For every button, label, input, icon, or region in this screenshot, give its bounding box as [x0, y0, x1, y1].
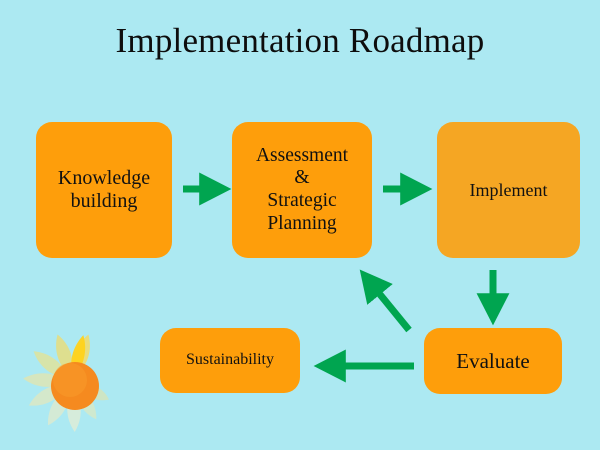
flower-center-highlight	[53, 363, 87, 397]
node-sustainability[interactable]: Sustainability	[160, 328, 300, 393]
node-implement[interactable]: Implement	[437, 122, 580, 258]
node-evaluate-label: Evaluate	[430, 349, 556, 373]
node-sustainability-label: Sustainability	[166, 351, 294, 370]
node-knowledge-building[interactable]: Knowledge building	[36, 122, 172, 258]
node-evaluate[interactable]: Evaluate	[424, 328, 562, 394]
node-implement-label: Implement	[443, 180, 574, 201]
arrow-evaluate-to-assessment	[365, 276, 409, 330]
sunflower-icon	[16, 325, 126, 435]
roadmap-diagram: Implementation Roadmap Knowledg	[0, 0, 600, 450]
page-title: Implementation Roadmap	[0, 20, 600, 62]
node-knowledge-building-label: Knowledge building	[42, 167, 166, 213]
node-assessment-strategic-planning-label: Assessment & Strategic Planning	[238, 145, 366, 235]
node-assessment-strategic-planning[interactable]: Assessment & Strategic Planning	[232, 122, 372, 258]
